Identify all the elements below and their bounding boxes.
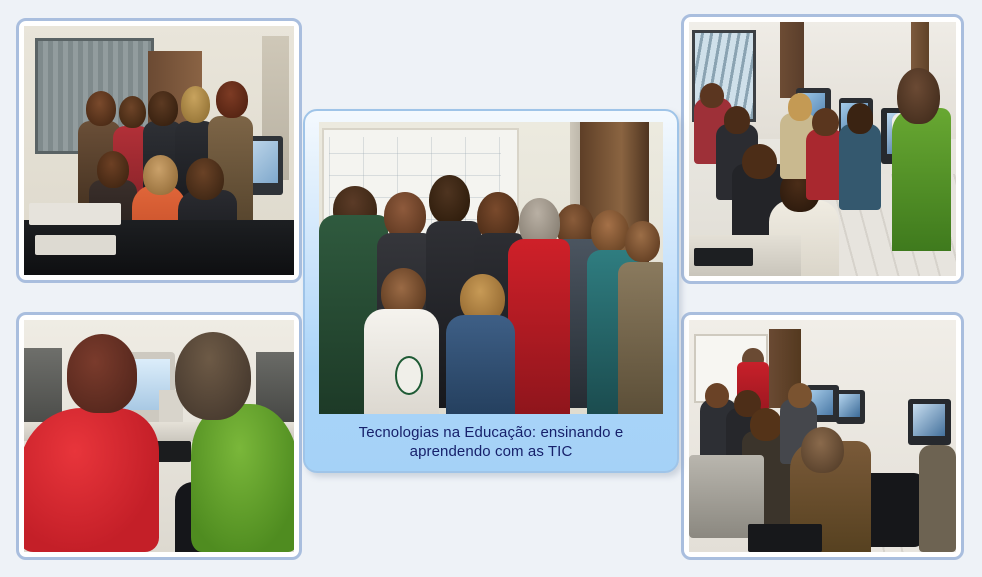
photo-students-at-computers [689, 320, 956, 552]
keyboard-shape [694, 248, 753, 266]
photo-frame-top-right[interactable] [681, 14, 964, 284]
keyboard-shape [35, 235, 116, 255]
center-highlight-panel[interactable]: Tecnologias na Educação: ensinando e apr… [303, 109, 679, 473]
photo-frame-top-left[interactable] [16, 18, 302, 283]
photo-frame-bottom-right[interactable] [681, 312, 964, 560]
photo-classroom-workstations [689, 22, 956, 276]
tshirt-logo [395, 356, 423, 395]
photo-frame-bottom-left[interactable] [16, 312, 302, 560]
person-head [801, 427, 844, 473]
photo-group-computer-lab [24, 26, 294, 275]
person-head [591, 210, 629, 254]
person-green-vest [191, 404, 294, 552]
door-shape [780, 22, 804, 98]
person-red-top [24, 408, 159, 552]
person-head [384, 192, 425, 239]
keyboard-shape [748, 524, 823, 552]
person-head [625, 221, 659, 262]
person-head [67, 334, 137, 413]
monitor-screen [913, 404, 945, 436]
photo-collage: Tecnologias na Educação: ensinando e apr… [0, 0, 982, 577]
caption-line-1: Tecnologias na Educação: ensinando e [319, 423, 663, 442]
person-denim-jacket [446, 315, 515, 414]
instructor-green-vest [892, 108, 951, 250]
keyboard-shape [29, 203, 121, 225]
person-beige-jacket [618, 262, 663, 414]
person-red-jacket [508, 239, 570, 414]
instructor-head [897, 68, 940, 124]
panel-caption: Tecnologias na Educação: ensinando e apr… [319, 423, 663, 461]
monitor-screen [839, 394, 860, 417]
person-head [175, 332, 251, 420]
group-photo-center [319, 122, 663, 414]
person-head [429, 175, 470, 225]
photo-two-women-at-computer [24, 320, 294, 552]
caption-line-2: aprendendo com as TIC [319, 442, 663, 461]
